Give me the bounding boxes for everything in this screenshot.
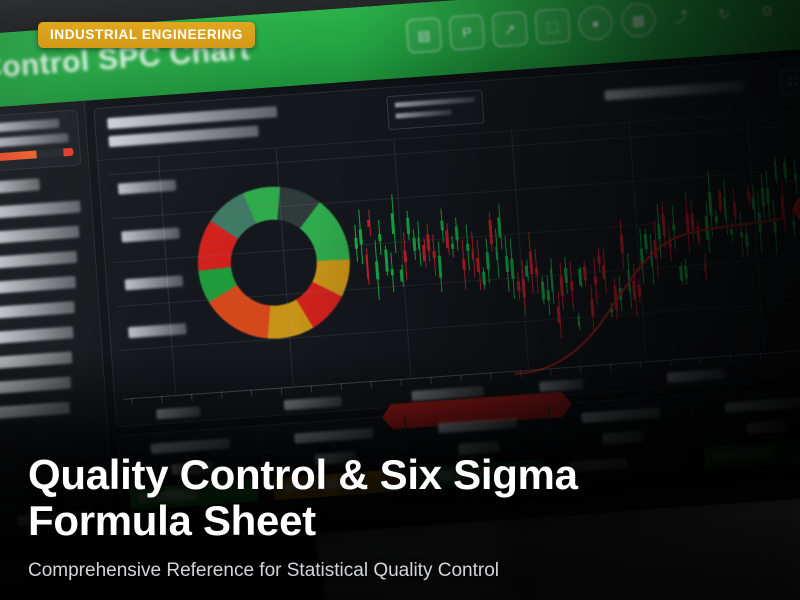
candlestick — [354, 238, 358, 249]
page-title-line-1: Quality Control & Six Sigma — [28, 452, 578, 498]
candlestick-wick — [471, 232, 475, 278]
sidebar-card-line-2 — [0, 133, 68, 148]
y-axis-tick-label — [128, 323, 187, 338]
chart-legend-label — [604, 81, 744, 101]
candlestick — [708, 192, 713, 215]
x-axis-tick — [281, 387, 282, 394]
candlestick-wick — [579, 267, 582, 288]
candlestick-wick — [793, 212, 796, 237]
candlestick — [525, 265, 529, 276]
candlestick — [781, 195, 786, 219]
candlestick-wick — [747, 185, 749, 205]
candlestick-wick — [375, 241, 380, 300]
candlestick — [358, 229, 362, 245]
candlestick-wick — [391, 194, 396, 253]
candlestick-wick — [697, 222, 700, 246]
candlestick — [657, 224, 661, 239]
candlestick-wick — [483, 267, 486, 289]
x-axis-tick — [610, 364, 611, 371]
candlestick — [529, 251, 534, 274]
table-cell-value — [746, 420, 788, 434]
candlestick-wick — [378, 220, 382, 256]
sidebar-menu — [0, 175, 106, 420]
page-subtitle: Comprehensive Reference for Statistical … — [28, 560, 499, 582]
candlestick — [723, 197, 727, 218]
page-title-line-2: Formula Sheet — [28, 498, 578, 544]
record-icon[interactable]: ● — [577, 5, 613, 41]
chart-info-box — [386, 89, 484, 130]
candlestick — [594, 277, 597, 285]
candlestick-wick — [590, 285, 594, 329]
candlestick — [718, 192, 722, 210]
candlestick — [426, 235, 430, 251]
candlestick-wick — [719, 189, 722, 212]
candlestick — [390, 269, 393, 275]
candlestick — [745, 234, 749, 247]
candlestick — [654, 240, 658, 259]
candlestick-wick — [455, 217, 458, 250]
candlestick — [488, 220, 493, 244]
chart-panel: ⛶ — [93, 57, 800, 428]
candlestick-wick — [619, 276, 622, 311]
x-axis-tick — [640, 362, 641, 369]
candlestick-wick — [529, 231, 535, 295]
candlestick-wick — [745, 225, 748, 256]
candlestick-wick — [627, 253, 632, 308]
document-icon[interactable]: ▤ — [406, 17, 442, 53]
candlestick-wick — [668, 226, 672, 262]
candlestick — [406, 218, 410, 234]
table-column-header — [438, 418, 517, 434]
candlestick-wick — [423, 238, 426, 268]
candlestick-wick — [657, 204, 662, 258]
candlestick — [466, 244, 469, 251]
candlestick — [378, 234, 381, 241]
candlestick — [578, 269, 582, 286]
candlestick — [761, 188, 765, 207]
candlestick-wick — [438, 242, 443, 292]
sidebar-item-1[interactable] — [0, 178, 40, 194]
status-bar — [704, 438, 800, 469]
candlestick-wick — [417, 221, 421, 266]
candlestick — [482, 272, 486, 286]
candlestick-wick — [731, 222, 733, 241]
x-axis-tick — [760, 353, 761, 360]
candlestick — [766, 188, 770, 204]
candlestick-wick — [620, 220, 624, 267]
candlestick-wick — [557, 292, 561, 339]
candlestick — [680, 267, 684, 281]
candlestick — [560, 276, 564, 296]
x-axis-tick-label — [539, 379, 584, 392]
candlestick — [570, 282, 573, 291]
candlestick-wick — [781, 180, 786, 234]
y-axis-tick-label — [125, 275, 184, 290]
refresh-icon[interactable]: ↻ — [706, 0, 742, 32]
candlestick — [773, 222, 777, 233]
y-axis-tick-label — [118, 180, 177, 195]
candlestick-wick — [704, 254, 707, 280]
x-axis-tick — [131, 398, 132, 405]
candlestick — [640, 248, 644, 264]
screenshot-root: Control SPC Chart ▤P↗⬚●▦⤴↻⚙ — [0, 0, 800, 600]
candlestick — [685, 213, 689, 233]
x-axis-tick — [490, 372, 491, 379]
candlestick — [440, 221, 444, 231]
candlestick-wick — [486, 239, 490, 283]
candlestick-wick — [407, 211, 410, 240]
sidebar-item-4[interactable] — [0, 251, 78, 270]
candlestick-wick — [662, 201, 666, 249]
sidebar-item-6[interactable] — [0, 301, 75, 319]
candlestick-wick — [685, 260, 688, 285]
candlestick-wick — [489, 213, 493, 252]
candlestick — [643, 234, 647, 249]
sidebar-item-2[interactable] — [0, 200, 81, 219]
candlestick-wick — [794, 160, 798, 195]
candlestick-wick — [773, 200, 778, 255]
candlestick-wick — [632, 264, 637, 317]
candlestick — [455, 227, 459, 241]
candlestick — [451, 244, 454, 250]
sidebar-item-9[interactable] — [0, 377, 71, 395]
x-axis-tick-label — [667, 369, 726, 383]
candlestick — [747, 191, 750, 199]
candlestick-series — [348, 124, 800, 378]
candlestick-wick — [476, 241, 481, 290]
candlestick-wick — [614, 278, 618, 319]
candlestick-wick — [672, 205, 676, 249]
chart-heading-line-2 — [108, 125, 258, 147]
candlestick-wick — [535, 249, 539, 294]
candlestick — [794, 173, 797, 181]
candlestick-wick — [427, 224, 431, 262]
candlestick-wick — [510, 239, 515, 299]
sidebar-item-10[interactable] — [0, 402, 70, 419]
candlestick — [564, 268, 568, 283]
candlestick-wick — [526, 259, 529, 282]
candlestick — [391, 213, 395, 234]
candlestick — [476, 258, 480, 272]
candlestick — [403, 251, 407, 262]
candlestick — [733, 203, 737, 217]
candlestick — [627, 271, 631, 292]
candlestick-wick — [368, 210, 371, 236]
candlestick-wick — [593, 258, 597, 304]
y-axis-tick-label — [121, 227, 180, 242]
page-title: Quality Control & Six Sigma Formula Shee… — [28, 452, 578, 544]
candlestick — [365, 255, 370, 280]
candlestick — [375, 261, 379, 279]
table-column-header — [725, 397, 800, 413]
candlestick — [462, 259, 466, 270]
candlestick — [546, 290, 550, 301]
candlestick — [661, 214, 665, 236]
candlestick — [668, 240, 671, 247]
candlestick — [557, 307, 561, 324]
x-axis-tick — [670, 360, 671, 367]
status-bar-label — [712, 448, 771, 462]
sidebar-progress-bar — [0, 148, 74, 162]
candlestick-wick — [723, 181, 728, 235]
x-axis-tick — [700, 357, 701, 364]
candlestick — [740, 232, 743, 238]
candlestick-wick — [465, 224, 469, 270]
candlestick — [367, 220, 370, 227]
print-icon[interactable]: P — [449, 14, 485, 50]
candlestick-wick — [733, 188, 737, 231]
candlestick-wick — [542, 277, 545, 304]
candlestick-wick — [358, 210, 363, 265]
sidebar-item-5[interactable] — [0, 276, 76, 294]
candlestick — [486, 253, 490, 270]
x-axis-tick — [191, 394, 192, 401]
sidebar-item-3[interactable] — [0, 226, 79, 245]
candlestick-wick — [550, 258, 554, 303]
candlestick — [696, 226, 700, 242]
chart-plot-area — [98, 110, 800, 427]
candlestick — [792, 221, 795, 228]
candlestick-wick — [517, 272, 520, 300]
x-axis-tick — [730, 355, 731, 362]
candlestick — [684, 266, 688, 278]
candlestick-wick — [644, 229, 647, 254]
candlestick — [550, 269, 555, 292]
progress-cap — [63, 148, 74, 157]
x-axis-tick — [221, 392, 222, 399]
candlestick — [432, 251, 435, 258]
x-axis-tick — [460, 375, 461, 382]
x-axis-tick-label — [284, 396, 343, 410]
x-axis-tick — [580, 366, 581, 373]
candlestick — [590, 299, 594, 316]
table-cell-value — [602, 431, 643, 445]
x-axis-tick — [251, 390, 252, 397]
status-bar — [561, 449, 689, 480]
x-axis-tick-label — [156, 406, 201, 419]
candlestick — [505, 256, 509, 273]
candlestick — [384, 250, 388, 273]
grid-icon[interactable]: ▦ — [620, 2, 656, 38]
chart-icon[interactable]: ↗ — [492, 11, 528, 47]
candlestick — [471, 250, 474, 259]
category-badge: INDUSTRIAL ENGINEERING — [38, 22, 255, 48]
candlestick — [632, 281, 636, 300]
candlestick-wick — [578, 313, 580, 330]
candlestick — [422, 245, 426, 262]
candlestick-wick — [403, 233, 407, 280]
candlestick — [597, 255, 600, 263]
x-axis-tick — [161, 396, 162, 403]
candlestick — [438, 256, 442, 278]
candlestick-wick — [740, 212, 744, 257]
x-axis-tick — [520, 370, 521, 377]
candlestick-wick — [385, 246, 388, 276]
x-axis-tick — [400, 379, 401, 386]
candlestick-wick — [564, 257, 568, 293]
x-axis-tick — [311, 385, 312, 392]
x-axis-tick — [371, 381, 372, 388]
expand-chart-button[interactable]: ⛶ — [779, 68, 800, 96]
sidebar-summary-card — [0, 109, 81, 172]
table-column-header — [582, 407, 661, 423]
candlestick — [618, 288, 622, 300]
candlestick — [541, 281, 545, 300]
sidebar-card-line-1 — [0, 119, 59, 133]
candlestick-wick — [452, 236, 455, 257]
candlestick — [613, 286, 618, 310]
info-box-line-2 — [396, 110, 453, 119]
candlestick-wick — [569, 262, 573, 311]
x-axis-tick — [550, 368, 551, 375]
share-icon[interactable]: ⤴ — [663, 0, 699, 35]
candlestick — [510, 259, 514, 279]
settings-icon[interactable]: ⚙ — [749, 0, 785, 29]
table-column-header — [294, 428, 373, 444]
candlestick — [619, 234, 623, 253]
candlestick — [650, 251, 654, 267]
info-box-line-1 — [395, 97, 475, 108]
candlestick — [495, 247, 499, 260]
candlestick-wick — [366, 248, 370, 285]
x-axis-tick — [430, 377, 431, 384]
candlestick — [672, 225, 675, 231]
filter-icon[interactable]: ⬚ — [534, 8, 570, 44]
header-toolbar: ▤P↗⬚●▦⤴↻⚙ — [406, 0, 785, 54]
candlestick-wick — [761, 174, 765, 220]
sidebar-item-8[interactable] — [0, 351, 72, 369]
candlestick-wick — [413, 230, 416, 260]
candlestick-wick — [498, 205, 502, 250]
progress-fill — [0, 150, 36, 162]
candlestick — [730, 229, 733, 236]
candlestick — [517, 281, 521, 291]
candlestick-wick — [597, 248, 600, 271]
candlestick-wick — [505, 236, 510, 292]
candlestick — [610, 307, 613, 313]
candlestick — [535, 267, 538, 275]
x-axis-tick — [341, 383, 342, 390]
sidebar-item-7[interactable] — [0, 326, 74, 344]
